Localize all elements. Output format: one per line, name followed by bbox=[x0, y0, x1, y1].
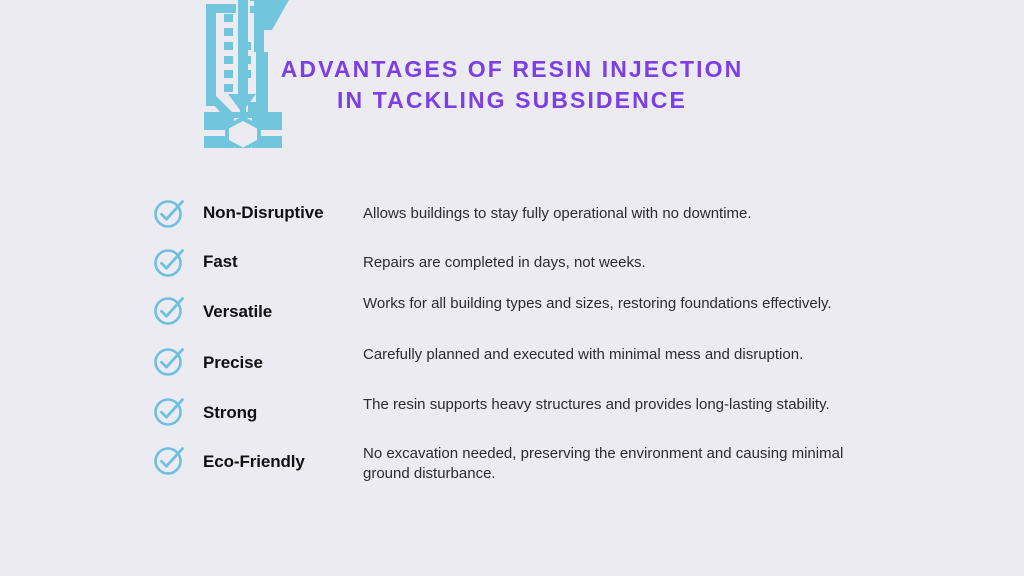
check-circle-icon bbox=[153, 444, 185, 476]
page-title: ADVANTAGES OF RESIN INJECTION IN TACKLIN… bbox=[272, 54, 752, 116]
advantage-label: Precise bbox=[203, 344, 363, 373]
list-item: Fast Repairs are completed in days, not … bbox=[153, 245, 913, 278]
advantage-description: Carefully planned and executed with mini… bbox=[363, 344, 868, 365]
advantage-description: The resin supports heavy structures and … bbox=[363, 394, 868, 415]
advantage-description: Repairs are completed in days, not weeks… bbox=[363, 245, 868, 273]
check-circle-icon bbox=[153, 345, 185, 377]
list-item: Precise Carefully planned and executed w… bbox=[153, 344, 913, 377]
check-circle-icon bbox=[153, 197, 185, 229]
advantage-label: Fast bbox=[203, 245, 363, 272]
advantage-label: Non-Disruptive bbox=[203, 196, 363, 223]
check-circle-icon bbox=[153, 294, 185, 326]
list-item: Strong The resin supports heavy structur… bbox=[153, 394, 913, 427]
advantage-description: Allows buildings to stay fully operation… bbox=[363, 196, 868, 224]
advantage-label: Versatile bbox=[203, 293, 363, 322]
header: ADVANTAGES OF RESIN INJECTION IN TACKLIN… bbox=[0, 0, 1024, 160]
advantage-label: Eco-Friendly bbox=[203, 443, 363, 472]
advantage-label: Strong bbox=[203, 394, 363, 423]
title-line-1: ADVANTAGES OF RESIN INJECTION bbox=[272, 54, 752, 85]
advantage-description: No excavation needed, preserving the env… bbox=[363, 443, 868, 484]
check-circle-icon bbox=[153, 246, 185, 278]
list-item: Eco-Friendly No excavation needed, prese… bbox=[153, 443, 913, 484]
title-line-2: IN TACKLING SUBSIDENCE bbox=[272, 85, 752, 116]
list-item: Non-Disruptive Allows buildings to stay … bbox=[153, 196, 913, 229]
list-item: Versatile Works for all building types a… bbox=[153, 293, 913, 326]
check-circle-icon bbox=[153, 395, 185, 427]
advantage-description: Works for all building types and sizes, … bbox=[363, 293, 868, 314]
infographic-slide: ADVANTAGES OF RESIN INJECTION IN TACKLIN… bbox=[0, 0, 1024, 576]
